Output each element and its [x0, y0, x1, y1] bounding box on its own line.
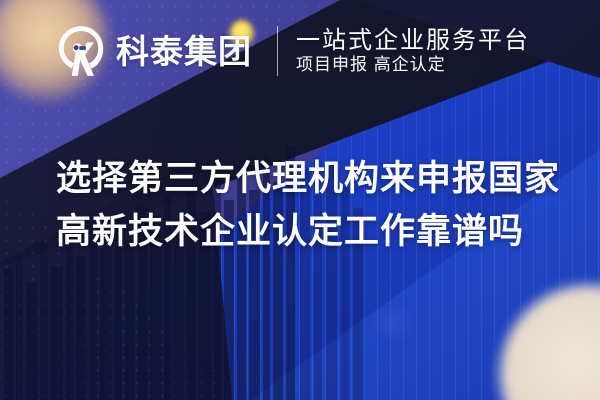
header-divider	[277, 26, 278, 76]
brand-header: 科泰集团 一站式企业服务平台 项目申报 高企认定	[54, 24, 530, 78]
bokeh-circle-faint	[370, 300, 416, 346]
brand-name: 科泰集团	[116, 35, 252, 68]
ketai-circular-logo-icon	[54, 24, 108, 78]
page-title: 选择第三方代理机构来申报国家 高新技术企业认定工作靠谱吗	[56, 152, 556, 258]
promo-banner: 科泰集团 一站式企业服务平台 项目申报 高企认定 选择第三方代理机构来申报国家 …	[0, 0, 600, 400]
tagline-block: 一站式企业服务平台 项目申报 高企认定	[296, 28, 530, 74]
tagline-primary: 一站式企业服务平台	[296, 28, 530, 53]
title-line-2: 高新技术企业认定工作靠谱吗	[56, 205, 556, 258]
bokeh-circle-cream	[500, 285, 600, 400]
title-line-1: 选择第三方代理机构来申报国家	[56, 152, 556, 205]
tagline-secondary: 项目申报 高企认定	[296, 56, 530, 74]
